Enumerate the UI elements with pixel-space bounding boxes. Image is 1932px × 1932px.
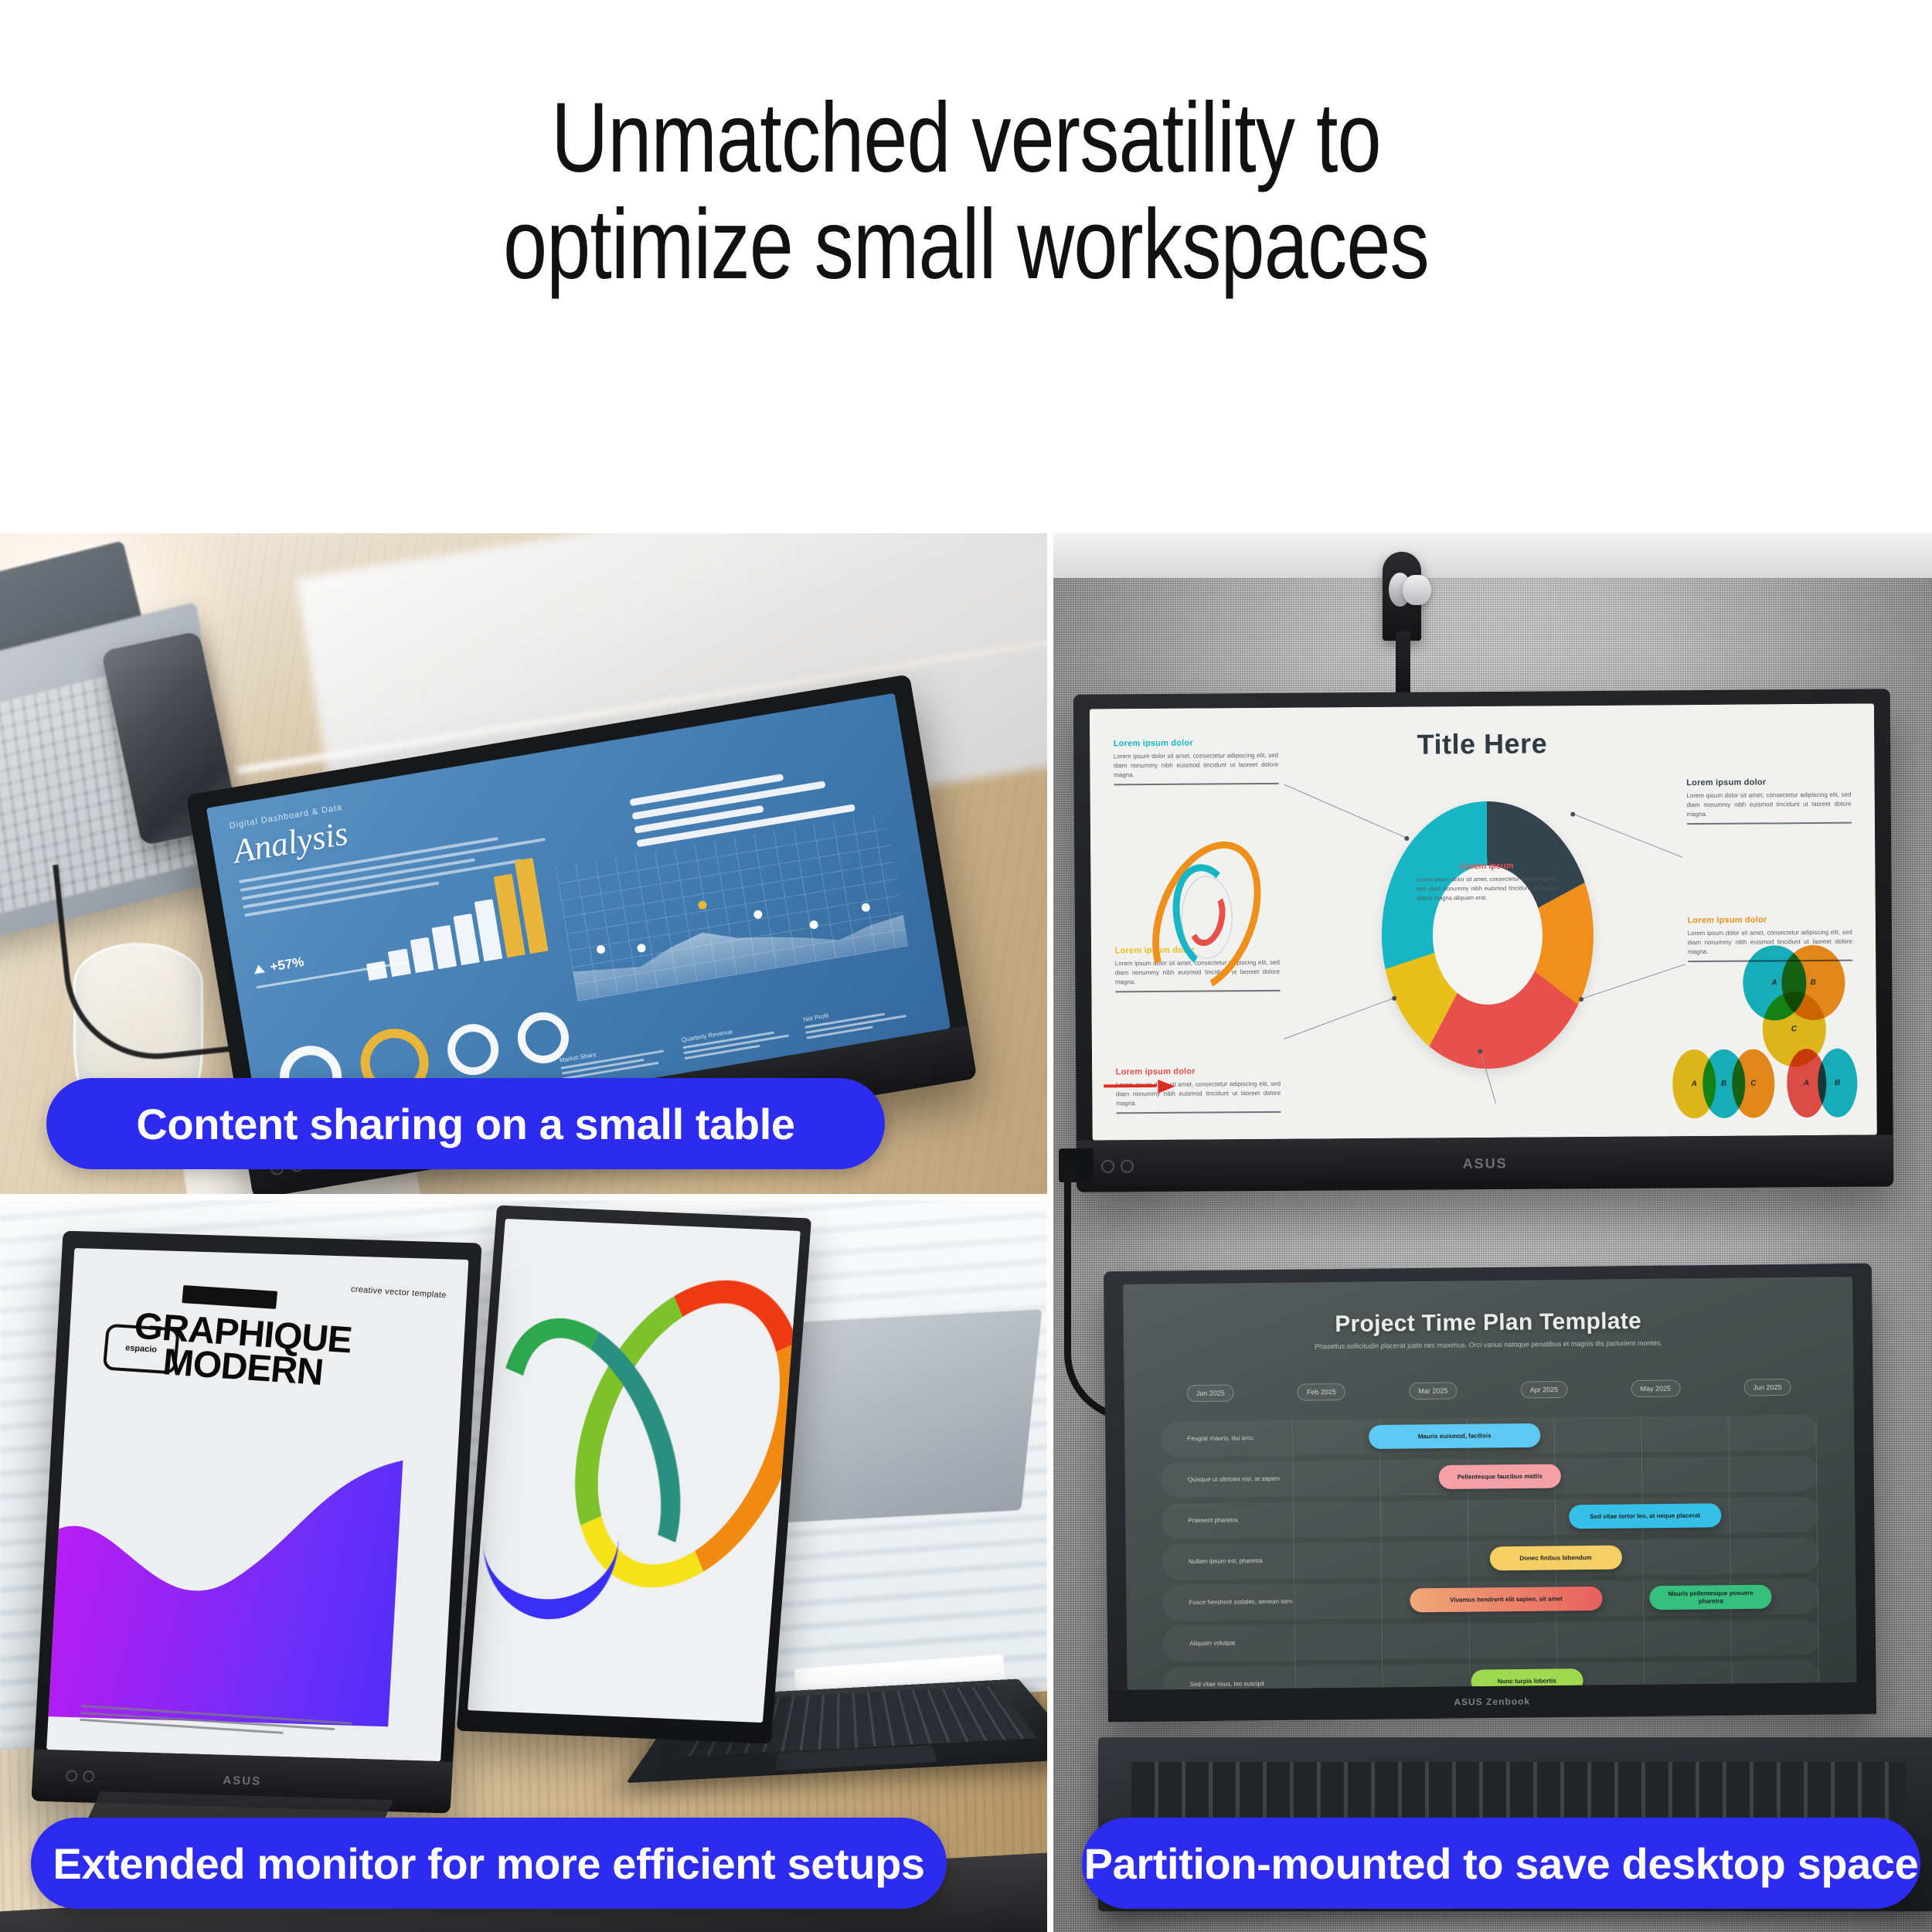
- caption-badge-content-sharing: Content sharing on a small table: [46, 1078, 885, 1169]
- headline-line-1: Unmatched versatility to: [551, 83, 1381, 193]
- rainbow-ribbon-artwork: [488, 1259, 780, 1682]
- note-rule: [1687, 821, 1852, 824]
- monitor-screen: espacio creative vector template GRAPHIQ…: [46, 1248, 468, 1761]
- laptop-screen: Project Time Plan Template Phasellus sol…: [1123, 1277, 1857, 1690]
- monitor-screen: Title Here Lorem ipsum dolor Lorem ipsum…: [1090, 703, 1877, 1139]
- gantt-bar: Pellentesque faucibus mattis: [1439, 1464, 1561, 1490]
- note-rule: [1114, 783, 1279, 785]
- monitor-control-buttons[interactable]: [66, 1770, 95, 1783]
- donut-chart-3: [444, 1020, 502, 1079]
- partition-top-rail: [1053, 533, 1932, 578]
- venn-circle-c: C: [1732, 1049, 1775, 1118]
- venn-diagram-2: A B C: [1673, 1049, 1776, 1118]
- portable-monitor-primary: espacio creative vector template GRAPHIQ…: [31, 1231, 481, 1814]
- asus-logo: ASUS: [1463, 1155, 1508, 1171]
- laptop: Project Time Plan Template Phasellus sol…: [1106, 1267, 1932, 1911]
- poster-title: GRAPHIQUE MODERN: [129, 1309, 454, 1399]
- donut-center-body: Lorem ipsum dolor sit amet, consectetur …: [1417, 874, 1558, 903]
- month-pill: May 2025: [1631, 1379, 1681, 1397]
- infographic-slide: Title Here Lorem ipsum dolor Lorem ipsum…: [1090, 703, 1877, 1139]
- venn-diagram-3: A B: [1787, 1048, 1858, 1117]
- gantt-row-label: Quisque ut ultricies nisi, at sapien: [1162, 1475, 1319, 1485]
- gantt-bar: Donec finibus bibendum: [1490, 1546, 1622, 1571]
- gantt-row: Feugiat mauris, dui arcu Mauris euismod,…: [1161, 1415, 1818, 1458]
- gantt-row-label: Nullam ipsum est, pharetra: [1162, 1556, 1320, 1566]
- slide-title: Title Here: [1417, 727, 1548, 760]
- month-pill: Apr 2025: [1521, 1381, 1568, 1399]
- month-pill: Feb 2025: [1298, 1383, 1345, 1401]
- asus-zenbook-logo: ASUS Zenbook: [1454, 1696, 1531, 1708]
- headline-line-2: optimize small workspaces: [193, 192, 1739, 298]
- note-heading: Lorem ipsum dolor: [1114, 738, 1278, 748]
- caption-badge-extended-monitor: Extended monitor for more efficient setu…: [31, 1818, 947, 1909]
- caption-badge-partition-mounted: Partition-mounted to save desktop space: [1082, 1818, 1920, 1909]
- venn-circle-b: B: [1818, 1048, 1858, 1117]
- gantt-row: Nullam ipsum est, pharetra Donec finibus…: [1162, 1538, 1819, 1580]
- gantt-bar: Vivamus hendrerit elit sapien, sit amet: [1410, 1587, 1603, 1613]
- gantt-slide: Project Time Plan Template Phasellus sol…: [1123, 1277, 1857, 1690]
- gantt-title: Project Time Plan Template: [1160, 1307, 1817, 1340]
- note-heading: Lorem ipsum dolor: [1116, 1066, 1281, 1077]
- donut-chart: [1381, 800, 1594, 1068]
- gantt-bar: Sed vitae tortor leo, at neque placerat: [1569, 1504, 1721, 1529]
- gantt-subtitle: Phasellus sollicitudin placerat justo ne…: [1160, 1338, 1817, 1352]
- month-pill: Jan 2025: [1187, 1384, 1234, 1402]
- gantt-row-label: Feugiat mauris, dui arcu: [1161, 1434, 1318, 1444]
- gantt-row: Fusce hendrerit sodales, aenean sem Viva…: [1163, 1579, 1820, 1621]
- note-body: Lorem ipsum dolor sit amet, consectetur …: [1687, 790, 1852, 818]
- gantt-row: Aliquam volutpat: [1163, 1620, 1820, 1662]
- donut-center-heading: Lorem ipsum: [1417, 861, 1558, 871]
- note-body: Lorem ipsum dolor sit amet, consectetur …: [1114, 751, 1278, 780]
- photo-partition-mounted: Title Here Lorem ipsum dolor Lorem ipsum…: [1053, 533, 1932, 1932]
- month-pill: Mar 2025: [1409, 1382, 1457, 1400]
- gantt-row-label: Praesent pharetra: [1162, 1515, 1320, 1526]
- monitor-screen: [468, 1219, 801, 1723]
- monitor-chin: ASUS: [1077, 1134, 1894, 1192]
- template-eyebrow: creative vector template: [351, 1285, 447, 1301]
- page-title: Unmatched versatility to optimize small …: [193, 85, 1739, 298]
- note-heading: Lorem ipsum dolor: [1688, 915, 1852, 925]
- donut-center-text: Lorem ipsum Lorem ipsum dolor sit amet, …: [1417, 861, 1558, 903]
- title-rule: [182, 1285, 277, 1309]
- asus-logo: ASUS: [223, 1774, 262, 1788]
- callout-note-4: Lorem ipsum dolor Lorem ipsum dolor sit …: [1687, 777, 1852, 824]
- red-arrow-icon: [1104, 1079, 1175, 1092]
- gantt-row-label: Fusce hendrerit sodales, aenean sem: [1163, 1597, 1321, 1607]
- gantt-bar: Mauris euismod, facilisis: [1369, 1423, 1541, 1450]
- leader-line-4: [1284, 997, 1394, 1039]
- gantt-month-headers: Jan 2025 Feb 2025 Mar 2025 Apr 2025 May …: [1161, 1379, 1818, 1403]
- portable-monitor: Title Here Lorem ipsum dolor Lorem ipsum…: [1073, 689, 1894, 1192]
- thumbscrew-knob[interactable]: [1403, 575, 1431, 605]
- concentric-ring-chart: [1158, 837, 1257, 997]
- partition-mount-bracket: [1383, 552, 1421, 641]
- ribbon-tail: [481, 1455, 621, 1624]
- gantt-bar: Mauris pellentesque posuere pharetra: [1650, 1585, 1772, 1611]
- gantt-row-label: Aliquam volutpat: [1163, 1638, 1321, 1648]
- leader-line-1: [1284, 784, 1407, 838]
- leader-line-3: [1581, 964, 1685, 999]
- month-pill: Jun 2025: [1744, 1379, 1791, 1396]
- leader-line-2: [1573, 813, 1683, 857]
- laptop-bezel: ASUS Zenbook: [1108, 1682, 1876, 1722]
- note-heading: Lorem ipsum dolor: [1687, 777, 1852, 787]
- note-rule: [1117, 1111, 1281, 1114]
- kpi-value: +57%: [252, 954, 304, 978]
- photo-grid: Digital Dashboard & Data Analysis +57%: [0, 533, 1932, 1932]
- gantt-rows: Feugiat mauris, dui arcu Mauris euismod,…: [1161, 1415, 1821, 1690]
- portable-monitor-secondary: [456, 1206, 811, 1744]
- callout-note-1: Lorem ipsum dolor Lorem ipsum dolor sit …: [1114, 738, 1279, 785]
- marketing-page: Unmatched versatility to optimize small …: [0, 0, 1932, 1932]
- poster-title-line-2: MODERN: [129, 1343, 451, 1399]
- gantt-row: Quisque ut ultricies nisi, at sapien Pel…: [1162, 1456, 1818, 1498]
- trend-up-icon: [253, 964, 265, 974]
- laptop-lid: Project Time Plan Template Phasellus sol…: [1104, 1264, 1876, 1722]
- gantt-row: Praesent pharetra Sed vitae tortor leo, …: [1162, 1497, 1818, 1539]
